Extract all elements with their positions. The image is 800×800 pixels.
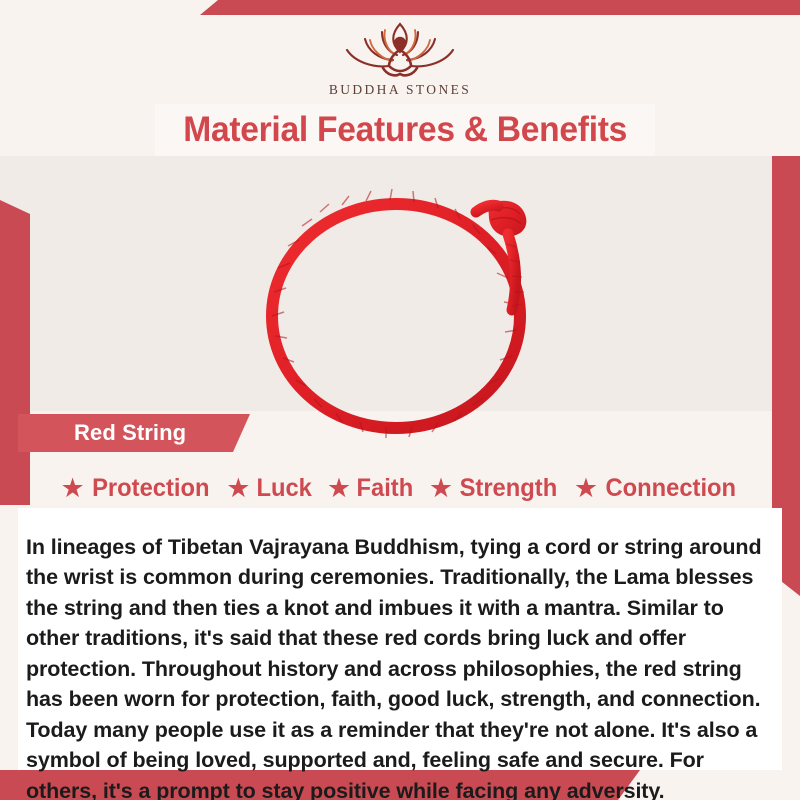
brand-name: BUDDHA STONES <box>329 82 471 98</box>
star-icon: ★ <box>574 475 598 502</box>
benefit-label: Protection <box>92 474 209 503</box>
description-text: In lineages of Tibetan Vajrayana Buddhis… <box>26 532 778 800</box>
infographic-page: BUDDHA STONES Material Features & Benefi… <box>0 0 800 800</box>
lotus-meditation-icon <box>325 19 475 81</box>
star-icon: ★ <box>327 475 351 502</box>
product-name-banner: Red String <box>18 414 250 452</box>
benefit-item-protection: ★ Protection <box>60 474 212 503</box>
description-card: In lineages of Tibetan Vajrayana Buddhis… <box>18 508 782 770</box>
red-string-braided-bracelet-icon <box>240 168 570 438</box>
page-title: Material Features & Benefits <box>183 110 627 150</box>
benefit-label: Luck <box>256 474 311 503</box>
benefit-label: Faith <box>357 474 414 503</box>
benefit-label: Strength <box>460 474 558 503</box>
star-icon: ★ <box>429 475 453 502</box>
product-image <box>240 168 570 438</box>
title-band: Material Features & Benefits <box>155 104 655 156</box>
star-icon: ★ <box>226 475 250 502</box>
benefit-item-faith: ★ Faith <box>327 474 415 503</box>
top-accent-strip <box>200 0 800 15</box>
benefit-label: Connection <box>605 474 736 503</box>
star-icon: ★ <box>60 475 84 502</box>
benefit-item-connection: ★ Connection <box>574 474 740 503</box>
left-accent-bar <box>0 200 30 505</box>
product-name-label: Red String <box>74 420 186 446</box>
benefit-item-luck: ★ Luck <box>226 474 313 503</box>
brand-header: BUDDHA STONES <box>0 15 800 105</box>
benefits-row: ★ Protection ★ Luck ★ Faith ★ Strength ★… <box>0 466 800 510</box>
benefit-item-strength: ★ Strength <box>429 474 560 503</box>
